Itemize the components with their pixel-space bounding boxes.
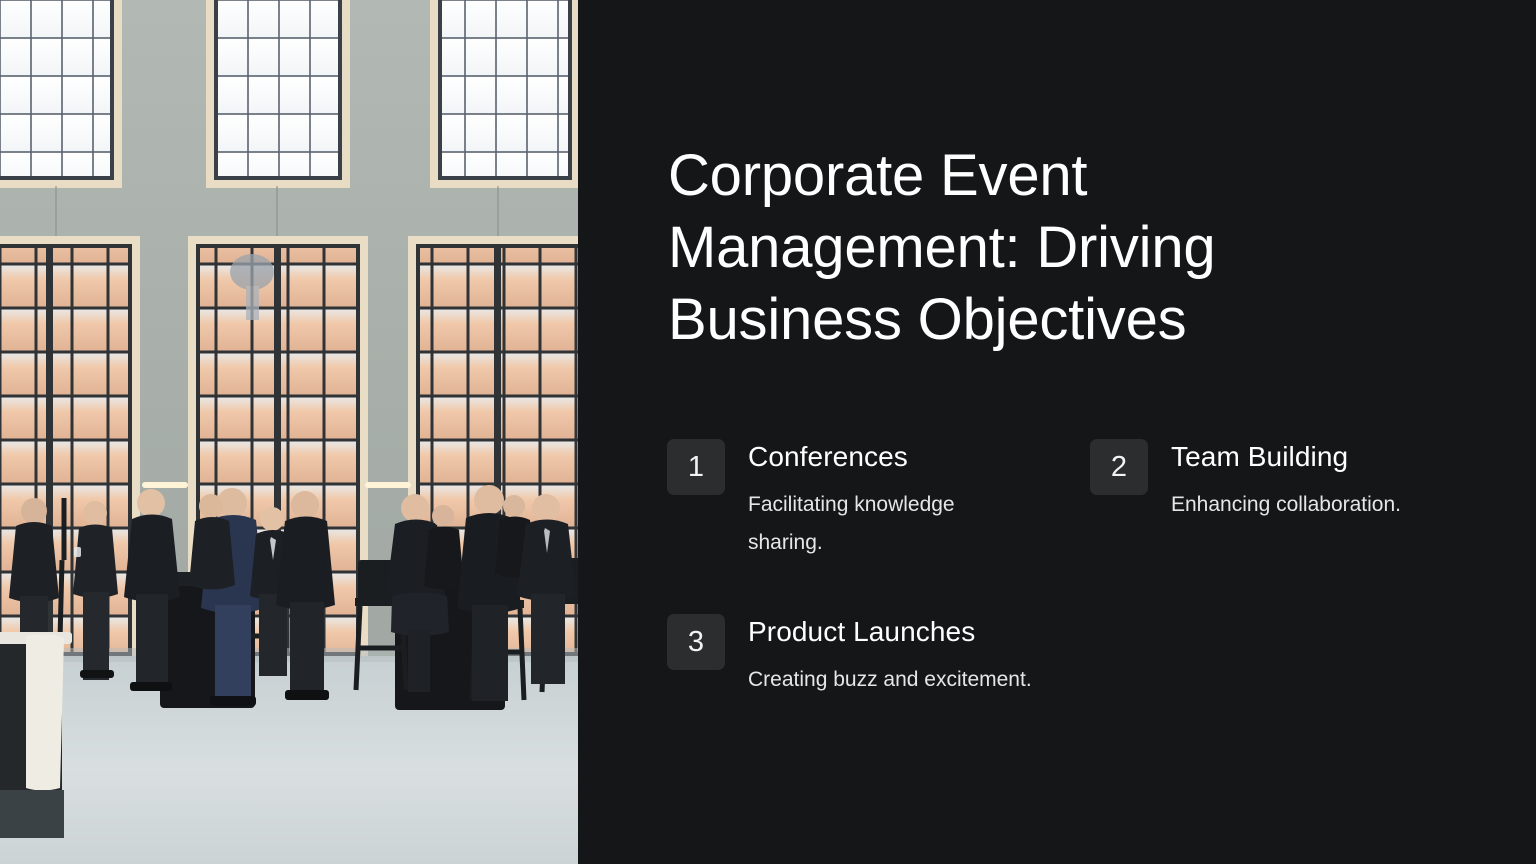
- item-text-block: Conferences Facilitating knowledge shari…: [725, 439, 1010, 562]
- item-number-badge: 1: [667, 439, 725, 495]
- item-description: Enhancing collaboration.: [1171, 486, 1401, 524]
- page-title: Corporate Event Management: Driving Busi…: [668, 140, 1368, 356]
- list-item: 3 Product Launches Creating buzz and exc…: [667, 614, 1077, 699]
- item-heading: Team Building: [1171, 440, 1401, 474]
- item-description: Facilitating knowledge sharing.: [748, 486, 1010, 562]
- list-item: 1 Conferences Facilitating knowledge sha…: [667, 439, 1077, 562]
- content-panel: Corporate Event Management: Driving Busi…: [578, 0, 1536, 864]
- item-text-block: Team Building Enhancing collaboration.: [1148, 439, 1401, 524]
- hall-photo-illustration: [0, 0, 578, 864]
- list-item: 2 Team Building Enhancing collaboration.: [1077, 439, 1487, 562]
- item-number-badge: 3: [667, 614, 725, 670]
- item-heading: Product Launches: [748, 615, 1032, 649]
- slide: Corporate Event Management: Driving Busi…: [0, 0, 1536, 864]
- item-heading: Conferences: [748, 440, 1010, 474]
- item-number-badge: 2: [1090, 439, 1148, 495]
- hero-photo: [0, 0, 578, 864]
- clerestory-windows: [0, 0, 578, 188]
- objectives-list: 1 Conferences Facilitating knowledge sha…: [667, 439, 1487, 751]
- item-description: Creating buzz and excitement.: [748, 661, 1032, 699]
- bar-counter: [0, 632, 72, 838]
- item-text-block: Product Launches Creating buzz and excit…: [725, 614, 1032, 699]
